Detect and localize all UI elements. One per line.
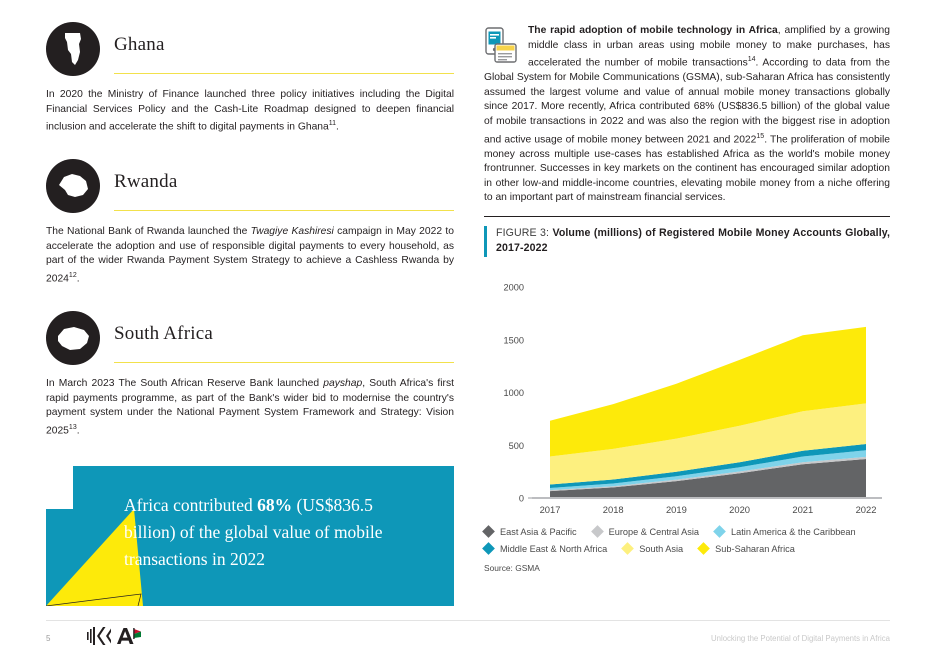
country-name: South Africa bbox=[114, 323, 213, 345]
figure-caption: FIGURE 3: Volume (millions) of Registere… bbox=[484, 226, 890, 257]
legend-marker-icon bbox=[482, 526, 495, 539]
document-page: Ghana In 2020 the Ministry of Finance la… bbox=[0, 0, 936, 662]
country-block-ghana: Ghana In 2020 the Ministry of Finance la… bbox=[46, 22, 454, 135]
accent-rule bbox=[114, 210, 454, 211]
y-tick-label: 0 bbox=[519, 493, 524, 503]
left-column: Ghana In 2020 the Ministry of Finance la… bbox=[46, 22, 454, 463]
afi-logo-icon bbox=[116, 626, 142, 646]
legend-label: Middle East & North Africa bbox=[500, 544, 607, 554]
legend-item-east-asia-pacific[interactable]: East Asia & Pacific bbox=[484, 527, 577, 537]
country-name: Rwanda bbox=[114, 171, 177, 193]
stacked-area-chart: 0500100015002000 20172018201920202021202… bbox=[484, 269, 890, 521]
callout-text: Africa contributed 68% (US$836.5 billion… bbox=[124, 492, 424, 573]
legend-item-sub-saharan-africa[interactable]: Sub-Saharan Africa bbox=[699, 544, 795, 554]
legend-row-1: East Asia & Pacific Europe & Central Asi… bbox=[484, 527, 890, 537]
footer-title: Unlocking the Potential of Digital Payme… bbox=[711, 634, 890, 643]
accent-rule bbox=[114, 362, 454, 363]
legend-item-latin-america[interactable]: Latin America & the Caribbean bbox=[715, 527, 856, 537]
legend-item-south-asia[interactable]: South Asia bbox=[623, 544, 683, 554]
x-tick-label: 2022 bbox=[856, 504, 877, 515]
footer-divider bbox=[46, 620, 890, 621]
rwanda-map-icon bbox=[46, 159, 100, 213]
page-footer: 5 Unlocking the Potential of Digital Pay… bbox=[46, 626, 890, 656]
x-axis-labels: 201720182019202020212022 bbox=[540, 504, 877, 515]
accent-rule bbox=[114, 73, 454, 74]
legend-item-middle-east-north-africa[interactable]: Middle East & North Africa bbox=[484, 544, 607, 554]
footer-logos bbox=[86, 626, 142, 646]
figure-label: FIGURE 3: bbox=[496, 227, 549, 239]
legend-row-2: Middle East & North Africa South Asia Su… bbox=[484, 544, 890, 554]
y-tick-label: 1500 bbox=[504, 335, 524, 345]
page-number: 5 bbox=[46, 634, 50, 643]
x-tick-label: 2021 bbox=[792, 504, 813, 515]
legend-marker-icon bbox=[697, 543, 710, 556]
y-axis-labels: 0500100015002000 bbox=[504, 282, 536, 503]
y-tick-label: 1000 bbox=[504, 388, 524, 398]
mobile-document-icon bbox=[484, 26, 520, 70]
x-tick-label: 2019 bbox=[666, 504, 687, 515]
figure-title: Volume (millions) of Registered Mobile M… bbox=[496, 227, 890, 255]
legend-marker-icon bbox=[713, 526, 726, 539]
legend-marker-icon bbox=[591, 526, 604, 539]
figure-caption-text: FIGURE 3: Volume (millions) of Registere… bbox=[496, 226, 890, 257]
chart-svg: 0500100015002000 20172018201920202021202… bbox=[484, 269, 890, 521]
x-tick-label: 2020 bbox=[729, 504, 750, 515]
country-name: Ghana bbox=[114, 34, 165, 56]
figure-accent-bar bbox=[484, 226, 487, 257]
chart-source: Source: GSMA bbox=[484, 563, 890, 573]
intro-block: The rapid adoption of mobile technology … bbox=[484, 24, 890, 206]
country-paragraph: In March 2023 The South African Reserve … bbox=[46, 377, 454, 439]
intro-paragraph: The rapid adoption of mobile technology … bbox=[484, 24, 890, 206]
country-block-south-africa: South Africa In March 2023 The South Afr… bbox=[46, 311, 454, 439]
x-tick-label: 2018 bbox=[603, 504, 624, 515]
legend-label: East Asia & Pacific bbox=[500, 527, 577, 537]
right-column: The rapid adoption of mobile technology … bbox=[484, 24, 890, 573]
country-header: Ghana bbox=[46, 22, 454, 80]
partner-logo-icon bbox=[86, 626, 112, 646]
legend-label: Latin America & the Caribbean bbox=[731, 527, 856, 537]
legend-label: South Asia bbox=[639, 544, 683, 554]
legend-marker-icon bbox=[482, 543, 495, 556]
country-header: Rwanda bbox=[46, 159, 454, 217]
ghana-map-icon bbox=[46, 22, 100, 76]
country-paragraph: The National Bank of Rwanda launched the… bbox=[46, 225, 454, 287]
y-tick-label: 2000 bbox=[504, 282, 524, 292]
legend-label: Sub-Saharan Africa bbox=[715, 544, 795, 554]
chart-series-areas bbox=[550, 327, 866, 498]
legend-item-europe-central-asia[interactable]: Europe & Central Asia bbox=[593, 527, 699, 537]
country-block-rwanda: Rwanda The National Bank of Rwanda launc… bbox=[46, 159, 454, 287]
highlight-callout: Africa contributed 68% (US$836.5 billion… bbox=[46, 466, 454, 606]
legend-label: Europe & Central Asia bbox=[609, 527, 699, 537]
y-tick-label: 500 bbox=[509, 441, 524, 451]
south-africa-map-icon bbox=[46, 311, 100, 365]
x-tick-label: 2017 bbox=[540, 504, 561, 515]
country-header: South Africa bbox=[46, 311, 454, 369]
figure-divider bbox=[484, 216, 890, 217]
chart-legend: East Asia & Pacific Europe & Central Asi… bbox=[484, 527, 890, 573]
country-paragraph: In 2020 the Ministry of Finance launched… bbox=[46, 88, 454, 135]
legend-marker-icon bbox=[621, 543, 634, 556]
